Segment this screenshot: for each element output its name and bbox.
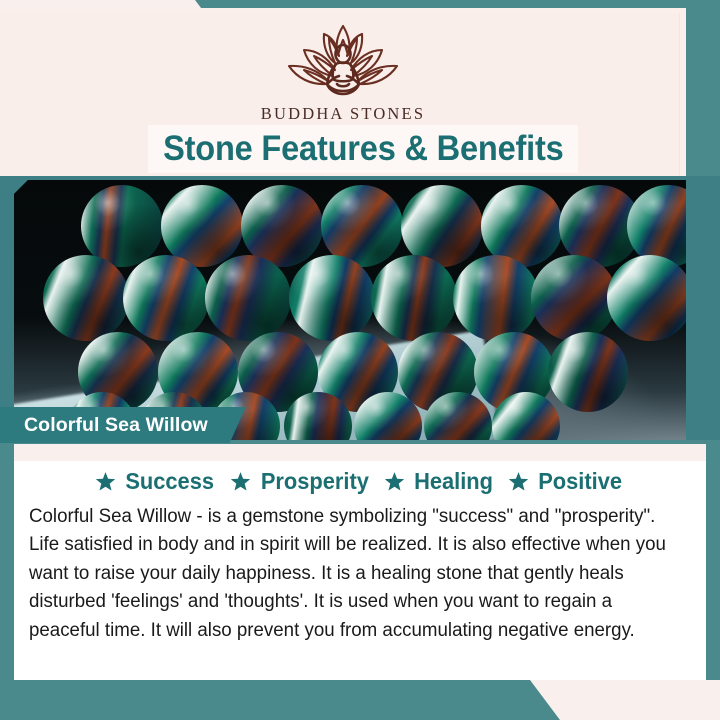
bead-pattern <box>548 332 628 412</box>
content-card: SuccessProsperityHealingPositive Colorfu… <box>14 444 706 680</box>
star-icon <box>230 471 251 492</box>
stone-features-poster: BUDDHA STONES Stone Features & Benefits … <box>0 0 720 720</box>
bottom-corner-cut <box>0 680 720 720</box>
bead-pattern <box>371 255 457 341</box>
gemstone-bead <box>123 255 209 341</box>
content-frame: SuccessProsperityHealingPositive Colorfu… <box>0 440 720 720</box>
page-title-band: Stone Features & Benefits <box>148 125 578 173</box>
benefit-item: Prosperity <box>230 468 372 495</box>
gemstone-bead <box>371 255 457 341</box>
benefit-label: Success <box>126 468 215 495</box>
brand-logo: BUDDHA STONES <box>0 20 686 124</box>
photo-caption-banner: Colorful Sea Willow <box>0 407 246 443</box>
gemstone-bead <box>453 255 539 341</box>
bead-pattern <box>354 392 422 444</box>
bead-pattern <box>43 255 129 341</box>
benefit-label: Positive <box>539 468 623 495</box>
benefit-label: Prosperity <box>260 468 368 495</box>
bead-pattern <box>453 255 539 341</box>
star-icon <box>95 471 116 492</box>
brand-name: BUDDHA STONES <box>0 104 686 124</box>
gemstone-bead <box>548 332 628 412</box>
gemstone-bead <box>284 392 352 444</box>
card-top-tint <box>14 444 706 461</box>
benefits-row: SuccessProsperityHealingPositive <box>14 468 706 495</box>
product-photo <box>14 180 686 444</box>
bead-pattern <box>607 255 686 341</box>
gemstone-bead <box>424 392 492 444</box>
bead-pattern <box>289 255 375 341</box>
bead-pattern <box>205 255 291 341</box>
bead-pattern <box>424 392 492 444</box>
gemstone-bead <box>607 255 686 341</box>
gemstone-bead <box>354 392 422 444</box>
description-text: Colorful Sea Willow - is a gemstone symb… <box>29 503 677 645</box>
page-title: Stone Features & Benefits <box>163 129 564 169</box>
gemstone-bead <box>43 255 129 341</box>
bead-pattern <box>531 255 617 341</box>
benefit-label: Healing <box>414 468 493 495</box>
bead-pattern <box>492 392 560 444</box>
gemstone-bead <box>492 392 560 444</box>
star-icon <box>508 471 529 492</box>
star-icon <box>384 471 405 492</box>
lotus-meditation-icon <box>281 20 405 102</box>
photo-caption-text: Colorful Sea Willow <box>24 414 208 437</box>
gemstone-bead <box>531 255 617 341</box>
product-photo-frame <box>0 176 720 444</box>
benefit-item: Success <box>95 468 216 495</box>
benefit-item: Healing <box>384 468 495 495</box>
benefit-item: Positive <box>508 468 624 495</box>
bead-pattern <box>123 255 209 341</box>
bead-pattern <box>284 392 352 444</box>
gemstone-bead <box>205 255 291 341</box>
gemstone-bead <box>289 255 375 341</box>
